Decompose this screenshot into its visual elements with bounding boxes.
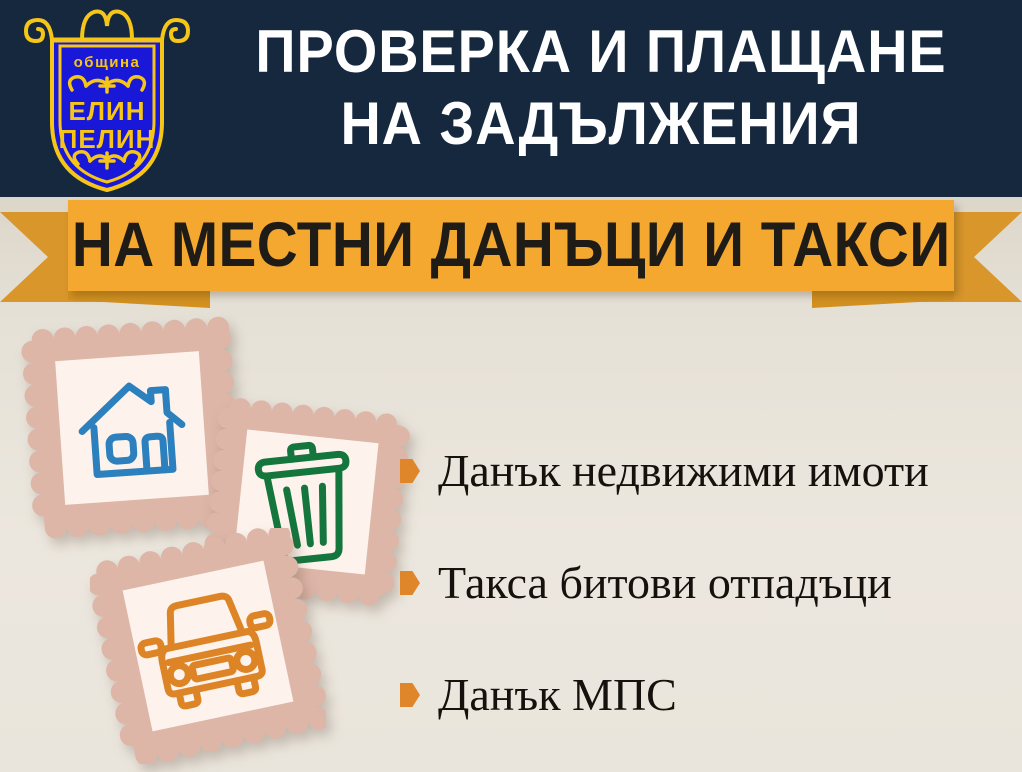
title-line-2: НА ЗАДЪЛЖЕНИЯ: [224, 88, 977, 160]
list-item[interactable]: Такса битови отпадъци: [400, 527, 1010, 639]
list-item[interactable]: Данък МПС: [400, 639, 1010, 751]
list-item[interactable]: Данък недвижими имоти: [400, 415, 1010, 527]
ribbon-fold-left: [68, 290, 210, 308]
stamp-collection: [0, 300, 420, 770]
bullet-arrow-icon: [400, 459, 420, 483]
ribbon-panel: НА МЕСТНИ ДАНЪЦИ И ТАКСИ: [68, 200, 954, 291]
list-item-label: Такса битови отпадъци: [438, 558, 892, 608]
ribbon-fold-right: [812, 290, 954, 308]
bullet-arrow-icon: [400, 571, 420, 595]
page-title: ПРОВЕРКА И ПЛАЩАНЕ НА ЗАДЪЛЖЕНИЯ: [196, 16, 1006, 160]
list-item-label: Данък недвижими имоти: [438, 446, 929, 496]
ribbon-banner: НА МЕСТНИ ДАНЪЦИ И ТАКСИ: [0, 197, 1022, 309]
logo-word-top: община: [74, 54, 141, 71]
municipality-logo: община ЕЛИН ПЕЛИН: [22, 4, 192, 194]
stamp-vehicle-car: [90, 528, 326, 769]
header-band: община ЕЛИН ПЕЛИН: [0, 0, 1022, 197]
tax-type-list: Данък недвижими имоти Такса битови отпад…: [400, 415, 1010, 751]
logo-word-bottom: ПЕЛИН: [59, 124, 156, 154]
logo-word-mid: ЕЛИН: [68, 96, 145, 126]
poster-root: община ЕЛИН ПЕЛИН: [0, 0, 1022, 772]
list-item-label: Данък МПС: [438, 670, 677, 720]
ribbon-text: НА МЕСТНИ ДАНЪЦИ И ТАКСИ: [72, 214, 951, 277]
title-line-1: ПРОВЕРКА И ПЛАЩАНЕ: [224, 16, 977, 88]
bullet-arrow-icon: [400, 683, 420, 707]
